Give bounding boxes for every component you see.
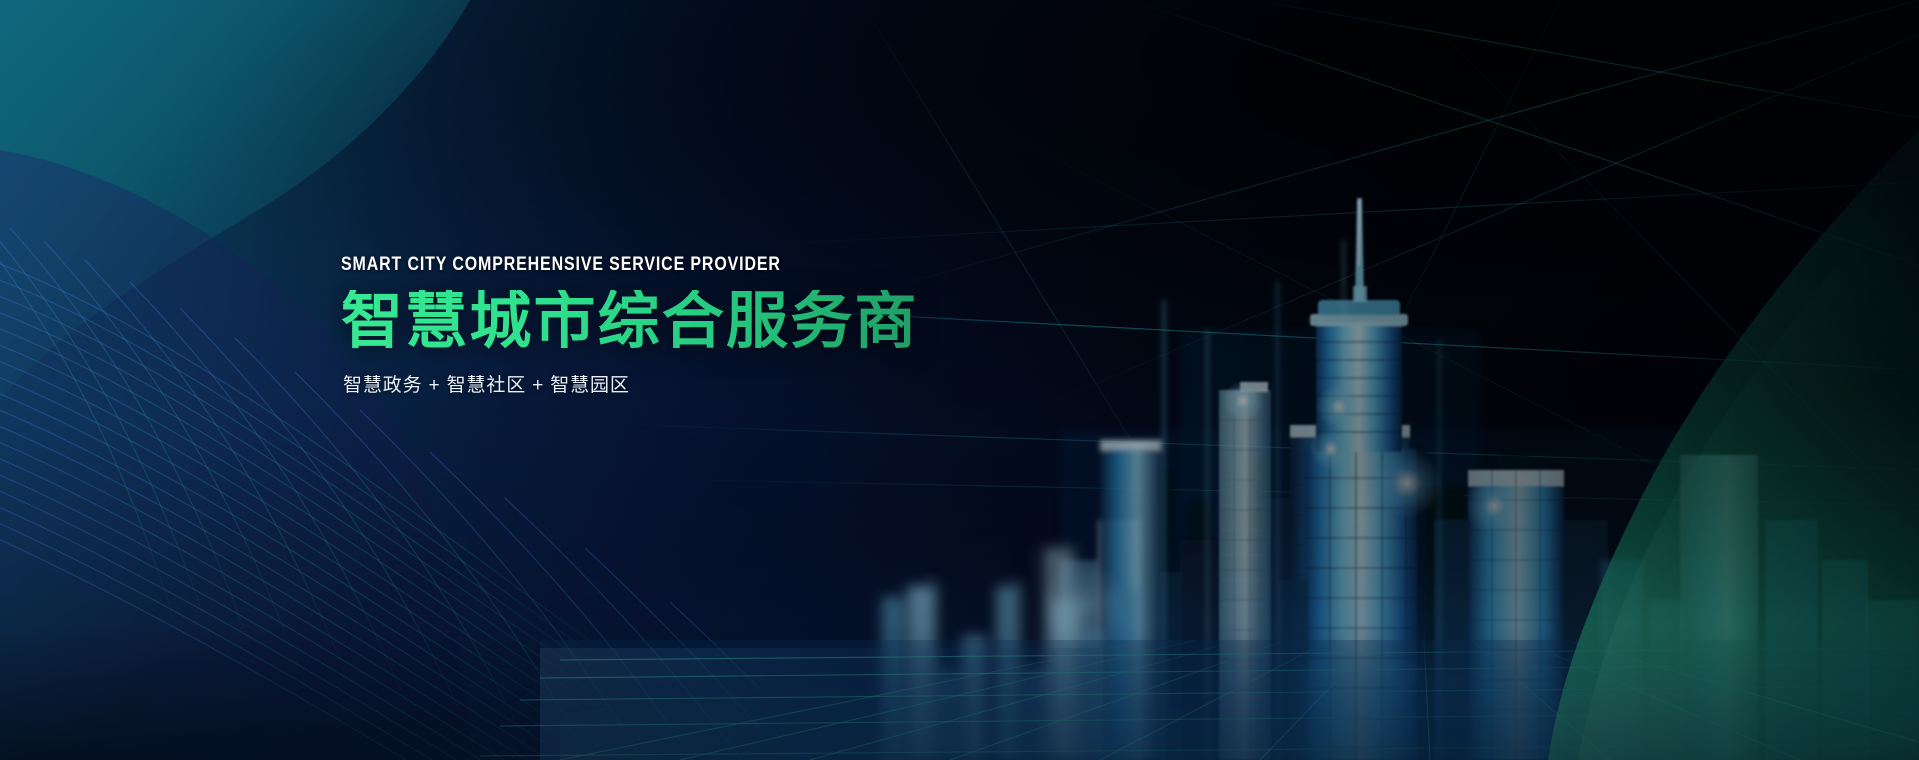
flare-tower-upper (1316, 384, 1362, 430)
flare-ground-left (1040, 560, 1130, 650)
hero-banner: SMART CITY COMPREHENSIVE SERVICE PROVIDE… (0, 0, 1919, 760)
hero-eyebrow: SMART CITY COMPREHENSIVE SERVICE PROVIDE… (341, 254, 979, 276)
hero-subline: 智慧政务 + 智慧社区 + 智慧园区 (343, 370, 1101, 397)
hero-copy-block: SMART CITY COMPREHENSIVE SERVICE PROVIDE… (341, 254, 1101, 397)
flare-tower-lower (1310, 428, 1352, 470)
hero-headline: 智慧城市综合服务商 (341, 290, 1101, 354)
flare-rightblock (1466, 478, 1522, 534)
flare-midright (1372, 448, 1442, 518)
glow-city-base (1050, 520, 1810, 760)
flare-left-tower (1222, 380, 1264, 422)
